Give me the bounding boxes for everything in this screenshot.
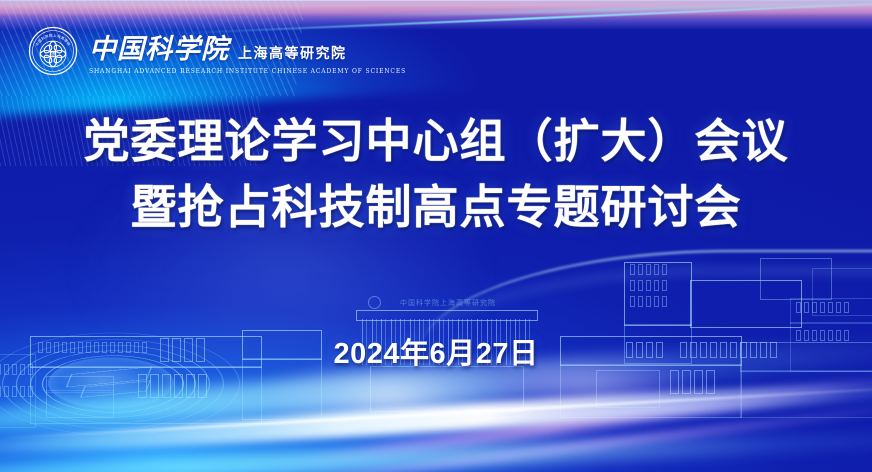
organization-header: 科 中国科学院上海高等研究院 中国科学院 上海高等研究院 SHANGHAI AD…	[28, 26, 406, 76]
building-watermark-label: 中国科学院上海高等研究院	[378, 298, 518, 308]
title-line-2: 暨抢占科技制高点专题研讨会	[0, 174, 872, 240]
cas-emblem-icon: 科 中国科学院上海高等研究院	[28, 26, 78, 76]
org-name-cn: 中国科学院	[89, 27, 229, 66]
top-pink-highlight	[0, 0, 872, 16]
cyan-streak-line-secondary	[314, 0, 872, 19]
org-name-cn-sub: 上海高等研究院	[238, 43, 347, 63]
org-name-en: SHANGHAI ADVANCED RESEARCH INSTITUTE CHI…	[89, 68, 406, 75]
conference-banner: 中国科学院上海高等研究院	[0, 0, 872, 472]
top-edge-highlight	[0, 0, 872, 1]
svg-text:科: 科	[51, 51, 55, 57]
building-emblem-icon	[368, 296, 381, 309]
title-line-1: 党委理论学习中心组（扩大）会议	[0, 108, 872, 174]
banner-title-block: 党委理论学习中心组（扩大）会议 暨抢占科技制高点专题研讨会	[0, 108, 872, 240]
event-date: 2024年6月27日	[0, 330, 872, 372]
